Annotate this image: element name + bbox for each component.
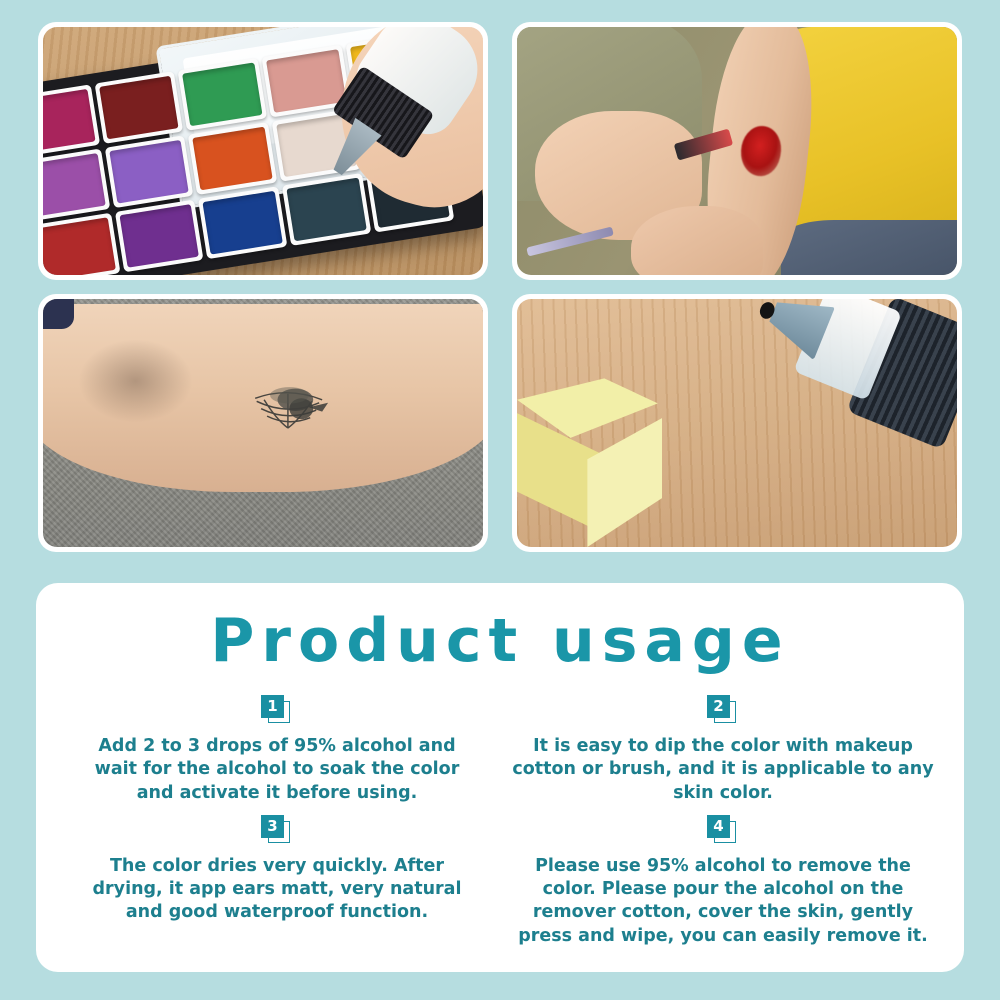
usage-step-2: 2 It is easy to dip the color with makeu… [508, 695, 938, 805]
usage-step-1: 1 Add 2 to 3 drops of 95% alcohol and wa… [62, 695, 492, 805]
photo-grid [38, 22, 962, 562]
paint-palette-image [43, 27, 483, 275]
paint-pan [43, 213, 120, 275]
jeans [781, 220, 957, 275]
paint-pan [43, 148, 110, 221]
wound-makeup-image [517, 27, 957, 275]
infographic-page: Product usage 1 Add 2 to 3 drops of 95% … [0, 0, 1000, 1000]
step-text: The color dries very quickly. After dryi… [62, 855, 492, 925]
skin-shadow [78, 339, 192, 423]
paint-pan [177, 58, 266, 131]
paint-pan [94, 71, 183, 144]
usage-steps: 1 Add 2 to 3 drops of 95% alcohol and wa… [36, 695, 964, 948]
step-number-badge: 2 [707, 695, 739, 725]
badge-number: 3 [261, 815, 284, 838]
page-title: Product usage [36, 583, 964, 671]
step-text: Please use 95% alcohol to remove the col… [508, 855, 938, 948]
wound-makeup-photo [512, 22, 962, 280]
paint-pan [104, 135, 193, 208]
paint-pan [198, 186, 287, 259]
step-number-badge: 1 [261, 695, 293, 725]
badge-number: 2 [707, 695, 730, 718]
tattoo-leg-image [43, 299, 483, 547]
badge-number: 1 [261, 695, 284, 718]
step-text: It is easy to dip the color with makeup … [508, 735, 938, 805]
paint-pan [188, 122, 277, 195]
badge-number: 4 [707, 815, 730, 838]
step-number-badge: 3 [261, 815, 293, 845]
step-number-badge: 4 [707, 815, 739, 845]
usage-step-3: 3 The color dries very quickly. After dr… [62, 815, 492, 948]
usage-step-4: 4 Please use 95% alcohol to remove the c… [508, 815, 938, 948]
step-text: Add 2 to 3 drops of 95% alcohol and wait… [62, 735, 492, 805]
tattoo-leg-photo [38, 294, 488, 552]
paint-palette-photo [38, 22, 488, 280]
paint-pan [43, 84, 99, 157]
sponge-bottle-photo [512, 294, 962, 552]
clothing-edge [43, 299, 74, 329]
paint-pan [114, 199, 203, 272]
brush [526, 226, 613, 256]
tattoo-design [219, 373, 360, 447]
product-usage-card: Product usage 1 Add 2 to 3 drops of 95% … [36, 583, 964, 972]
sponge-bottle-image [517, 299, 957, 547]
